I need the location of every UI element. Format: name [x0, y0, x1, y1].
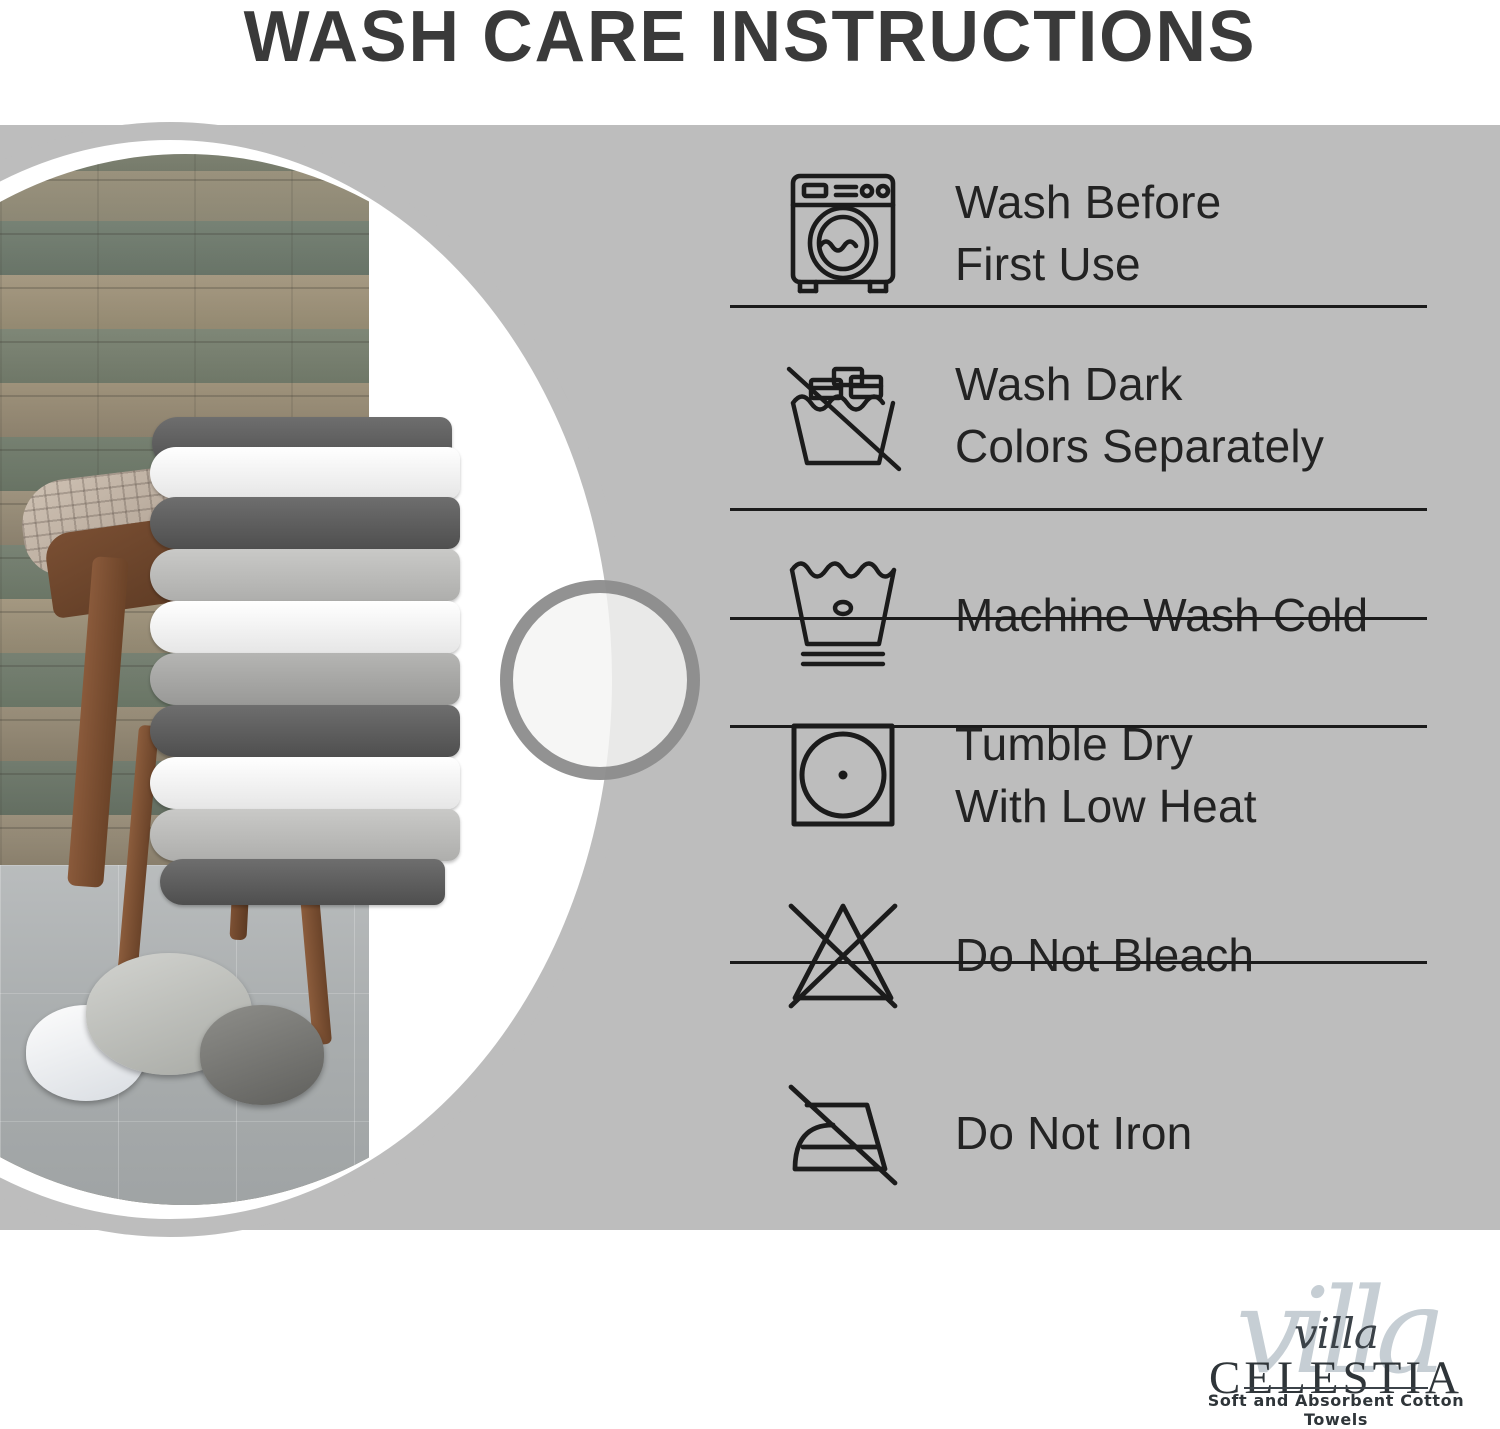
- row-divider: [730, 725, 1427, 728]
- instruction-list: Wash Before First Use Wash Dark Colors S…: [730, 125, 1430, 1230]
- row-divider: [730, 961, 1427, 964]
- instruction-label: Tumble Dry With Low Heat: [955, 713, 1257, 837]
- page-title: WASH CARE INSTRUCTIONS: [23, 0, 1478, 78]
- instruction-label: Machine Wash Cold: [955, 584, 1368, 646]
- do-not-bleach-icon: [730, 894, 955, 1016]
- no-mixed-colors-basket-icon: [730, 355, 955, 475]
- machine-wash-cold-tub-icon: [730, 556, 955, 674]
- logo-underline: [1244, 1387, 1428, 1389]
- row-divider: [730, 305, 1427, 308]
- row-divider: [730, 508, 1427, 511]
- do-not-iron-icon: [730, 1073, 955, 1193]
- washing-machine-icon: [730, 170, 955, 296]
- instruction-row[interactable]: Do Not Bleach: [730, 865, 1430, 1045]
- instruction-label: Wash Dark Colors Separately: [955, 353, 1324, 477]
- instruction-label: Wash Before First Use: [955, 171, 1221, 295]
- instruction-row[interactable]: Wash Before First Use: [730, 153, 1430, 313]
- instruction-row[interactable]: Tumble Dry With Low Heat: [730, 685, 1430, 865]
- instruction-row[interactable]: Machine Wash Cold: [730, 525, 1430, 705]
- instruction-row[interactable]: Do Not Iron: [730, 1043, 1430, 1223]
- instruction-row[interactable]: Wash Dark Colors Separately: [730, 325, 1430, 505]
- instruction-label: Do Not Iron: [955, 1102, 1192, 1164]
- instruction-label: Do Not Bleach: [955, 924, 1254, 986]
- row-divider: [730, 617, 1427, 620]
- brand-logo: villa villa CELESTIA Soft and Absorbent …: [1186, 1277, 1486, 1417]
- logo-tagline: Soft and Absorbent Cotton Towels: [1186, 1391, 1486, 1429]
- tumble-dry-low-heat-icon: [730, 716, 955, 834]
